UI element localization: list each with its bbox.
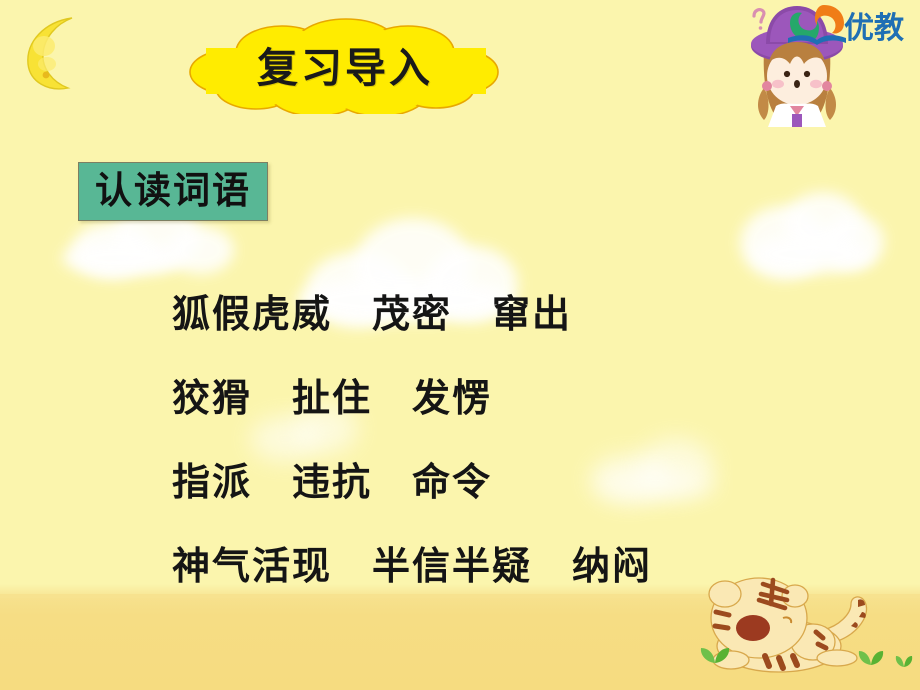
word-list: 狐假虎威 茂密 窜出 狡猾 扯住 发愣 指派 违抗 命令 神气活现 半信半疑 纳… (172, 272, 872, 608)
word-row: 指派 违抗 命令 (172, 440, 872, 524)
swirl-book-icon (786, 2, 848, 50)
word-row: 狐假虎威 茂密 窜出 (172, 272, 872, 356)
sprout-icon (698, 642, 732, 664)
crescent-moon-icon (14, 12, 96, 94)
brand-logo: 优教 (786, 2, 914, 52)
sprout-icon (856, 646, 886, 666)
page-title: 复习导入 (186, 14, 504, 114)
word-row: 狡猾 扯住 发愣 (172, 356, 872, 440)
sprout-icon (894, 652, 914, 668)
section-heading-box: 认读词语 (78, 162, 268, 221)
logo-text: 优教 (844, 3, 904, 47)
slide-canvas: 复习导入 认读词语 狐假虎威 茂密 窜出 狡猾 扯住 发愣 指派 违抗 命令 神… (0, 0, 920, 690)
